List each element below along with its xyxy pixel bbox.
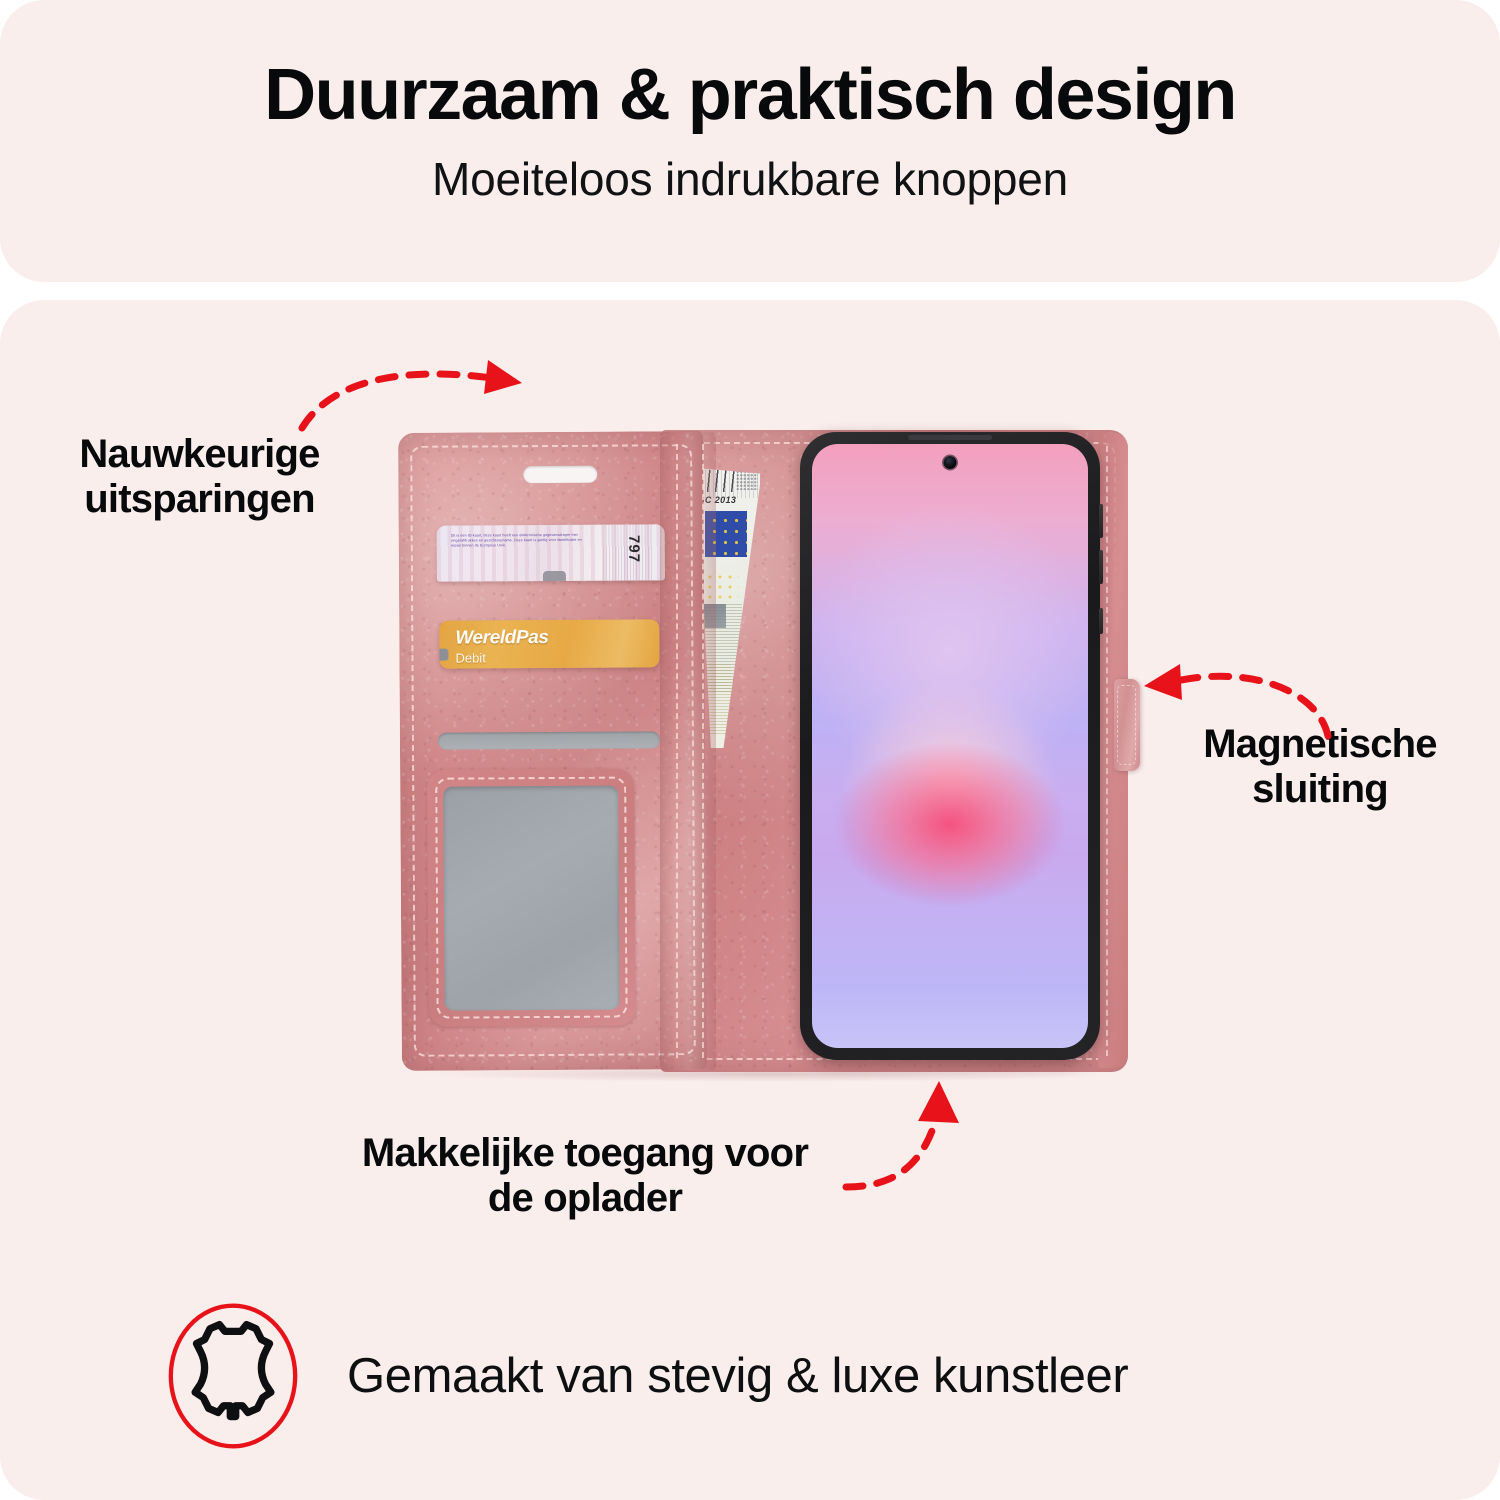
magnetic-closure-flap (1114, 679, 1140, 771)
material-badge: Gemaakt van stevig & luxe kunstleer (165, 1303, 1128, 1449)
top-cutout-slot (523, 466, 597, 483)
power-button[interactable] (1099, 608, 1103, 634)
smartphone (800, 432, 1100, 1060)
earpiece-speaker (908, 435, 992, 440)
id-card-chip (543, 571, 566, 582)
phone-screen-wallpaper (812, 444, 1088, 1048)
page-title: Duurzaam & praktisch design (0, 58, 1500, 134)
bank-card-name: WereldPas (455, 627, 548, 650)
bank-card: WereldPas Debit (439, 619, 659, 668)
header-card: Duurzaam & praktisch design Moeiteloos i… (0, 0, 1500, 282)
annotation-charger-access: Makkelijke toegang voor de oplader (350, 1131, 820, 1221)
slim-card-slot (438, 731, 660, 749)
infographic-page: Duurzaam & praktisch design Moeiteloos i… (0, 0, 1500, 1500)
id-card-number: 797 (625, 535, 642, 563)
leather-hide-icon (165, 1303, 301, 1449)
wallet-left-leaf: Dit is een ID-kaart, deze kaart heeft ee… (398, 431, 707, 1071)
photo-window-pocket (427, 769, 636, 1027)
bank-card-type: Debit (455, 650, 485, 665)
flap-stitching (1117, 685, 1136, 765)
front-camera-icon (944, 456, 957, 469)
eu-flag-stars (705, 511, 747, 557)
product-photo-wallet-case: BC 2013 Dit is een ID-kaart, deze kaart … (398, 424, 1150, 1076)
banknote-bars (701, 470, 737, 492)
banknote-star-circle (705, 572, 739, 600)
annotation-magnetic-closure: Magnetische sluiting (1150, 722, 1490, 812)
banknote-text: BC 2013 (698, 495, 736, 505)
annotation-precise-cutouts: Nauwkeurige uitsparingen (22, 432, 377, 522)
volume-down-button[interactable] (1099, 550, 1103, 584)
window-pocket-glass (443, 786, 619, 1011)
right-edge-stitching (1106, 446, 1108, 1056)
id-card-microtext: Dit is een ID-kaart, deze kaart heeft ee… (451, 533, 591, 549)
id-card: Dit is een ID-kaart, deze kaart heeft ee… (437, 524, 665, 581)
page-subtitle: Moeiteloos indrukbare knoppen (0, 152, 1500, 206)
volume-up-button[interactable] (1099, 504, 1103, 538)
material-badge-text: Gemaakt van stevig & luxe kunstleer (347, 1348, 1128, 1404)
bank-card-chip (439, 649, 448, 661)
banknote-eu-flag (705, 511, 747, 557)
